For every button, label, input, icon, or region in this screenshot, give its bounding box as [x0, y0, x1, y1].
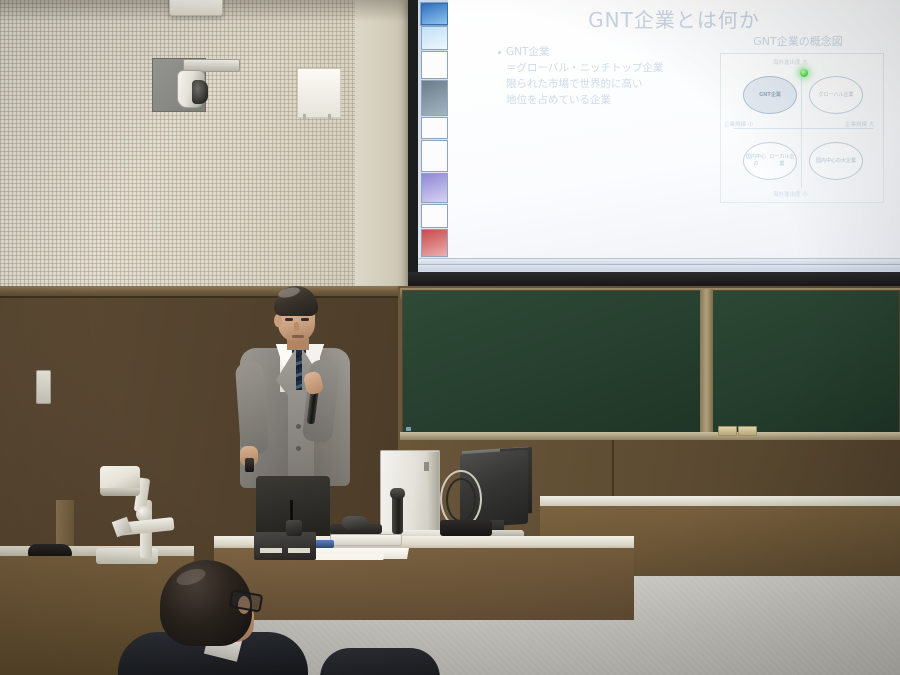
slide-thumbnail[interactable]	[421, 80, 448, 116]
chalkboard-divider	[700, 289, 713, 435]
slide-bullet-line: ＝グローバル・ニッチトップ企業	[506, 60, 696, 76]
os-taskbar[interactable]	[418, 264, 900, 272]
wall-sign-clip	[303, 114, 306, 120]
amplifier-knob[interactable]	[286, 520, 302, 536]
slide-bullet-text: GNT企業	[506, 46, 549, 58]
presenter-mouth	[292, 335, 304, 338]
amplifier-unit	[254, 532, 316, 560]
presenter	[232, 286, 352, 556]
slide-thumbnail[interactable]	[421, 26, 448, 50]
slide-title: GNT企業とは何か	[448, 4, 900, 33]
camera-lens-icon	[192, 80, 208, 104]
slide-thumbnail[interactable]	[421, 3, 448, 25]
chalkboard-panel-right	[712, 290, 900, 434]
amplifier-label	[288, 548, 310, 553]
chalkboard-eraser	[718, 426, 737, 436]
slide-thumbnail[interactable]	[421, 204, 448, 228]
slide-bullet-block: GNT企業 ＝グローバル・ニッチトップ企業 限られた市場で世界的に高い 地位を占…	[506, 44, 696, 108]
axis-label-left: 企業規模 小	[724, 120, 753, 128]
diagram-title: GNT企業の概念図	[703, 33, 893, 49]
chalk-piece	[406, 427, 411, 431]
laser-pointer-device	[245, 458, 254, 472]
ceiling-speaker-icon	[169, 0, 223, 16]
audience-right-person	[320, 648, 440, 675]
slide-bullet-line: GNT企業	[498, 44, 696, 60]
desk-microphone-head-icon	[390, 488, 405, 499]
cable-connector	[314, 540, 334, 548]
quadrant-ellipse-bottom-right: 国内中心の大企業	[809, 142, 863, 180]
document-camera-lens-face	[100, 488, 140, 496]
lecture-room-photo: GNT企業とは何か GNT企業 ＝グローバル・ニッチトップ企業 限られた市場で世…	[0, 0, 900, 675]
slide-thumbnail[interactable]	[421, 51, 448, 79]
mouse-icon[interactable]	[342, 516, 368, 529]
cable-bundle	[440, 520, 492, 536]
axis-label-bottom: 海外進出度 小	[773, 190, 808, 198]
cable-coil-dark	[446, 478, 476, 522]
slide-thumbnail[interactable]	[421, 173, 448, 203]
slide-thumbnail-rail[interactable]	[418, 0, 449, 258]
wall-sign	[297, 68, 341, 118]
slide-thumbnail[interactable]	[421, 229, 448, 257]
axis-label-top: 海外進出度 大	[773, 58, 808, 66]
slide-bullet-line: 限られた市場で世界的に高い	[506, 76, 696, 92]
presenter-nose	[294, 322, 299, 331]
presenter-eye	[285, 318, 293, 321]
pc-power-button[interactable]	[424, 462, 429, 471]
slide-canvas: GNT企業とは何か GNT企業 ＝グローバル・ニッチトップ企業 限られた市場で世…	[448, 0, 900, 258]
presenter-eye	[301, 318, 309, 321]
quadrant-ellipse-top-right: グローバル企業	[809, 76, 863, 114]
presenter-jacket-button	[296, 446, 301, 451]
keyboard[interactable]	[330, 534, 402, 546]
slide-thumbnail[interactable]	[421, 140, 448, 172]
wall-sign-clip	[328, 114, 331, 120]
quadrant-ellipse-top-left: GNT企業	[743, 76, 797, 114]
laser-pointer-dot	[800, 69, 808, 77]
amplifier-label	[260, 548, 282, 553]
axis-label-right: 企業規模 大	[845, 120, 874, 128]
projection-screen: GNT企業とは何か GNT企業 ＝グローバル・ニッチトップ企業 限られた市場で世…	[418, 0, 900, 272]
wall-outlet-plate	[36, 370, 51, 404]
slide-thumbnail[interactable]	[421, 117, 448, 139]
presenter-jacket-button	[296, 424, 301, 429]
quadrant-diagram: 海外進出度 大 海外進出度 小 企業規模 小 企業規模 大 GNT企業 グローバ…	[720, 53, 884, 203]
desk-microphone-stalk	[392, 494, 403, 534]
chalkboard-panel-left	[402, 290, 704, 434]
quadrant-ellipse-bottom-left: 国内中心のローカル企業	[743, 142, 797, 180]
slide-bullet-line: 地位を占めている企業	[506, 92, 696, 108]
diagram-horizontal-axis	[733, 128, 873, 129]
chalkboard-eraser	[738, 426, 757, 436]
